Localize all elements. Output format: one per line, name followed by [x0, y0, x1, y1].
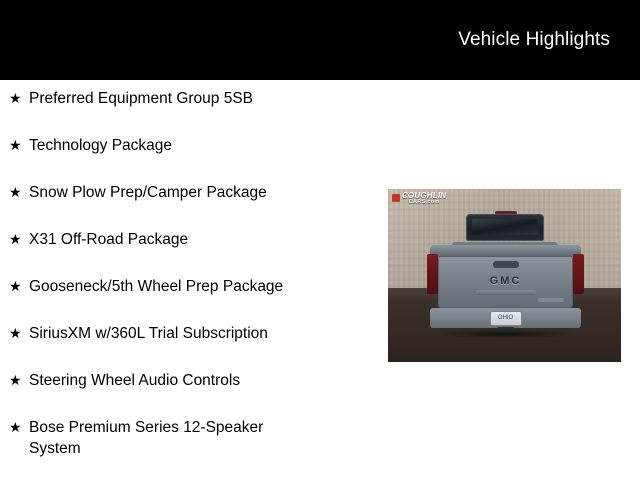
- list-item: ★ X31 Off-Road Package: [0, 229, 375, 276]
- list-item: ★ Bose Premium Series 12-Speaker System: [0, 417, 375, 464]
- under-vehicle-shadow: [434, 329, 577, 339]
- rear-cab-window: [466, 214, 544, 241]
- rear-window-glass: [472, 219, 538, 235]
- gmc-badge: GMC: [490, 275, 522, 287]
- star-bullet-icon: ★: [9, 276, 29, 297]
- list-item: ★ Technology Package: [0, 135, 375, 182]
- license-plate-text: OHIO: [491, 315, 521, 322]
- taillight-left: [427, 254, 438, 294]
- list-item: ★ Gooseneck/5th Wheel Prep Package: [0, 276, 375, 323]
- page-title: Vehicle Highlights: [458, 28, 610, 52]
- tailgate-trim-badge: [538, 298, 564, 302]
- tailgate-emboss: [476, 290, 536, 295]
- star-bullet-icon: ★: [9, 135, 29, 156]
- star-bullet-icon: ★: [9, 417, 29, 438]
- tailgate: GMC: [438, 256, 573, 308]
- vehicle-photo: GMC OHIO COUGHLIN CARS.com: [388, 189, 621, 362]
- highlight-label: Snow Plow Prep/Camper Package: [29, 182, 375, 203]
- star-bullet-icon: ★: [9, 88, 29, 109]
- taillight-right: [573, 254, 584, 294]
- highlight-label: Gooseneck/5th Wheel Prep Package: [29, 276, 375, 297]
- star-bullet-icon: ★: [9, 323, 29, 344]
- star-bullet-icon: ★: [9, 229, 29, 250]
- dealer-watermark: COUGHLIN CARS.com: [392, 192, 446, 206]
- tailgate-handle: [493, 261, 519, 268]
- list-item: ★ Steering Wheel Audio Controls: [0, 370, 375, 417]
- list-item: ★ SiriusXM w/360L Trial Subscription: [0, 323, 375, 370]
- license-plate: OHIO: [490, 311, 522, 326]
- header-bar: Vehicle Highlights: [0, 0, 640, 80]
- watermark-domain: CARS.com: [402, 200, 446, 206]
- vehicle-highlights-list: ★ Preferred Equipment Group 5SB ★ Techno…: [0, 88, 375, 464]
- star-bullet-icon: ★: [9, 182, 29, 203]
- highlight-label: Steering Wheel Audio Controls: [29, 370, 375, 391]
- star-bullet-icon: ★: [9, 370, 29, 391]
- highlight-label: Preferred Equipment Group 5SB: [29, 88, 375, 109]
- truck-rear-view: GMC OHIO: [428, 214, 583, 342]
- highlight-label: X31 Off-Road Package: [29, 229, 375, 250]
- highlight-label: Technology Package: [29, 135, 375, 156]
- coughlin-logo-icon: [392, 194, 400, 202]
- list-item: ★ Snow Plow Prep/Camper Package: [0, 182, 375, 229]
- watermark-text-block: COUGHLIN CARS.com: [402, 192, 446, 206]
- list-item: ★ Preferred Equipment Group 5SB: [0, 88, 375, 135]
- highlight-label: SiriusXM w/360L Trial Subscription: [29, 323, 375, 344]
- highlight-label: Bose Premium Series 12-Speaker System: [29, 417, 375, 459]
